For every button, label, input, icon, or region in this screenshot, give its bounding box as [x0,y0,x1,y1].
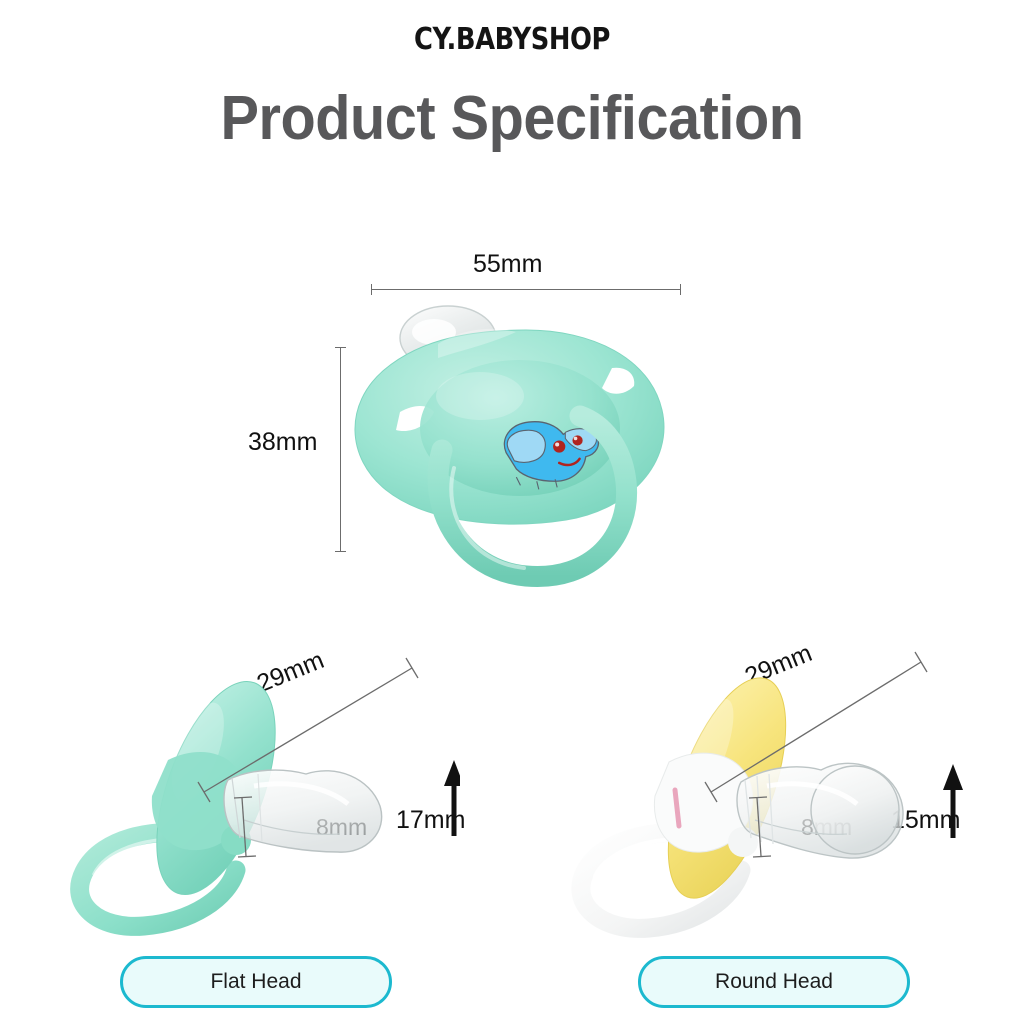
brand-logo: CY.BABYSHOP [72,22,953,57]
main-height-label: 38mm [248,428,317,457]
main-pacifier-illustration [330,300,720,620]
main-width-dimension-line [371,289,681,290]
variant-label-round-head[interactable]: Round Head [638,956,910,1008]
variant-label-flat-head[interactable]: Flat Head [120,956,392,1008]
round-head-pacifier-illustration [545,640,965,940]
flat-head-pacifier-illustration [40,640,460,940]
variant-label-round-head-text: Round Head [715,970,833,994]
page-title: Product Specification [36,83,988,154]
flat-tip-height-arrow [444,760,460,836]
round-nipple [737,763,903,858]
main-width-label: 55mm [473,250,542,279]
variant-label-flat-head-text: Flat Head [210,970,301,994]
round-tip-height-arrow [943,764,963,838]
